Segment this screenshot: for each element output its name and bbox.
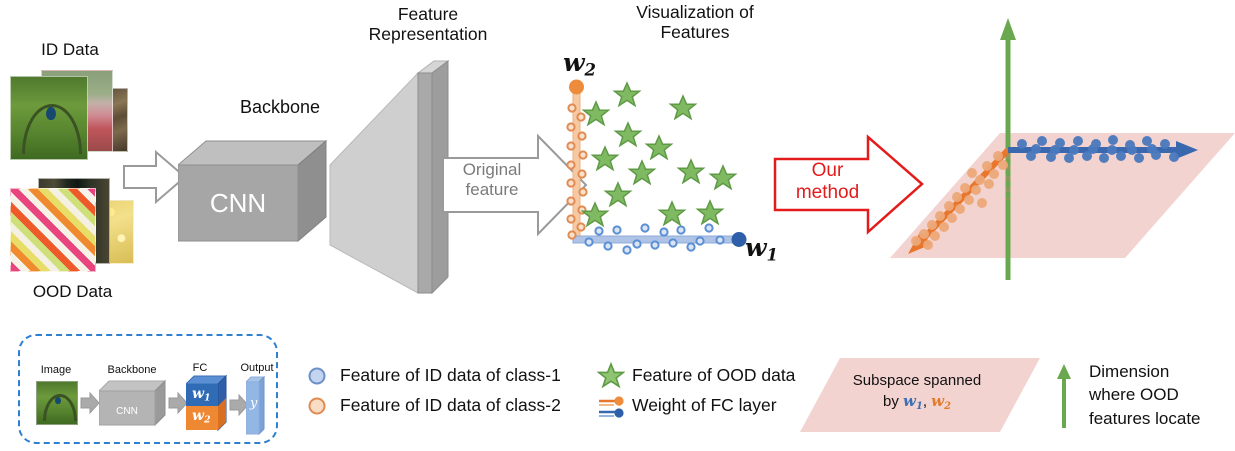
legend-item-1-label: Feature of ID data of class-2 [340, 395, 561, 416]
id-data-thumbnail-stack [8, 62, 134, 167]
inset-fc-label: FC [185, 362, 215, 374]
figure-canvas: ID Data OOD Data Backbone CNN Feature Re… [0, 0, 1235, 451]
dimension-legend-line2: where OOD [1089, 383, 1235, 406]
inset-bird-silhouette-icon [55, 397, 60, 404]
svg-text:CNN: CNN [116, 406, 138, 417]
inset-arrow-backbone-to-fc [168, 392, 188, 414]
circle-blue-outline-icon [307, 366, 327, 386]
inset-fc-block [186, 374, 230, 436]
inset-fc-w1-label: w1 [192, 386, 211, 404]
subspace-by-text: by [883, 393, 903, 410]
legend-item-0-label: Feature of ID data of class-1 [340, 365, 561, 386]
subspace-comma: , [923, 393, 931, 410]
bird-silhouette-icon [46, 107, 56, 121]
inset-output-label: Output [234, 362, 280, 374]
dimension-legend-line1: Dimension [1089, 360, 1235, 383]
subspace-3d-plot [890, 8, 1235, 293]
id-thumb-bird [10, 76, 88, 160]
cnn-label: CNN [178, 165, 298, 241]
feature-representation-slab [322, 45, 452, 295]
dimension-legend-text: Dimension where OOD features locate [1089, 360, 1235, 430]
inset-arrow-image-to-backbone [80, 392, 100, 414]
our-method-arrow-label: Our method [775, 160, 880, 204]
weight-vector-icon [597, 392, 627, 420]
feature-scatter-plot [555, 75, 785, 260]
visualization-of-features-label: Visualization of Features [590, 2, 800, 42]
inset-cnn-box: CNN [99, 379, 167, 426]
inset-fc-w2-label: w2 [192, 408, 211, 426]
cnn-label-text: CNN [210, 188, 266, 219]
inset-backbone-label: Backbone [96, 364, 168, 376]
inset-thumb-bird [36, 381, 78, 425]
subspace-legend-line2: by w1, w2 [812, 392, 1022, 413]
id-data-label: ID Data [10, 40, 130, 60]
ood-thumb-weave [10, 188, 96, 272]
circle-orange-outline-icon [307, 396, 327, 416]
ood-data-label: OOD Data [5, 282, 140, 302]
dimension-legend-line3: features locate [1089, 407, 1235, 430]
ood-data-thumbnail-stack [8, 170, 138, 280]
subspace-legend-line1: Subspace spanned [812, 372, 1022, 391]
subspace-w1: w1 [903, 392, 923, 410]
inset-image-label: Image [30, 364, 82, 376]
inset-output-y-label: y [250, 396, 257, 411]
legend-item-3-label: Weight of FC layer [632, 395, 777, 416]
star-green-icon [597, 362, 625, 390]
green-up-arrow-icon [1053, 362, 1075, 430]
original-feature-arrow-label: Original feature [442, 160, 542, 199]
subspace-w2: w2 [931, 392, 951, 410]
legend-item-2-label: Feature of OOD data [632, 365, 795, 386]
feature-representation-label: Feature Representation [318, 4, 538, 44]
